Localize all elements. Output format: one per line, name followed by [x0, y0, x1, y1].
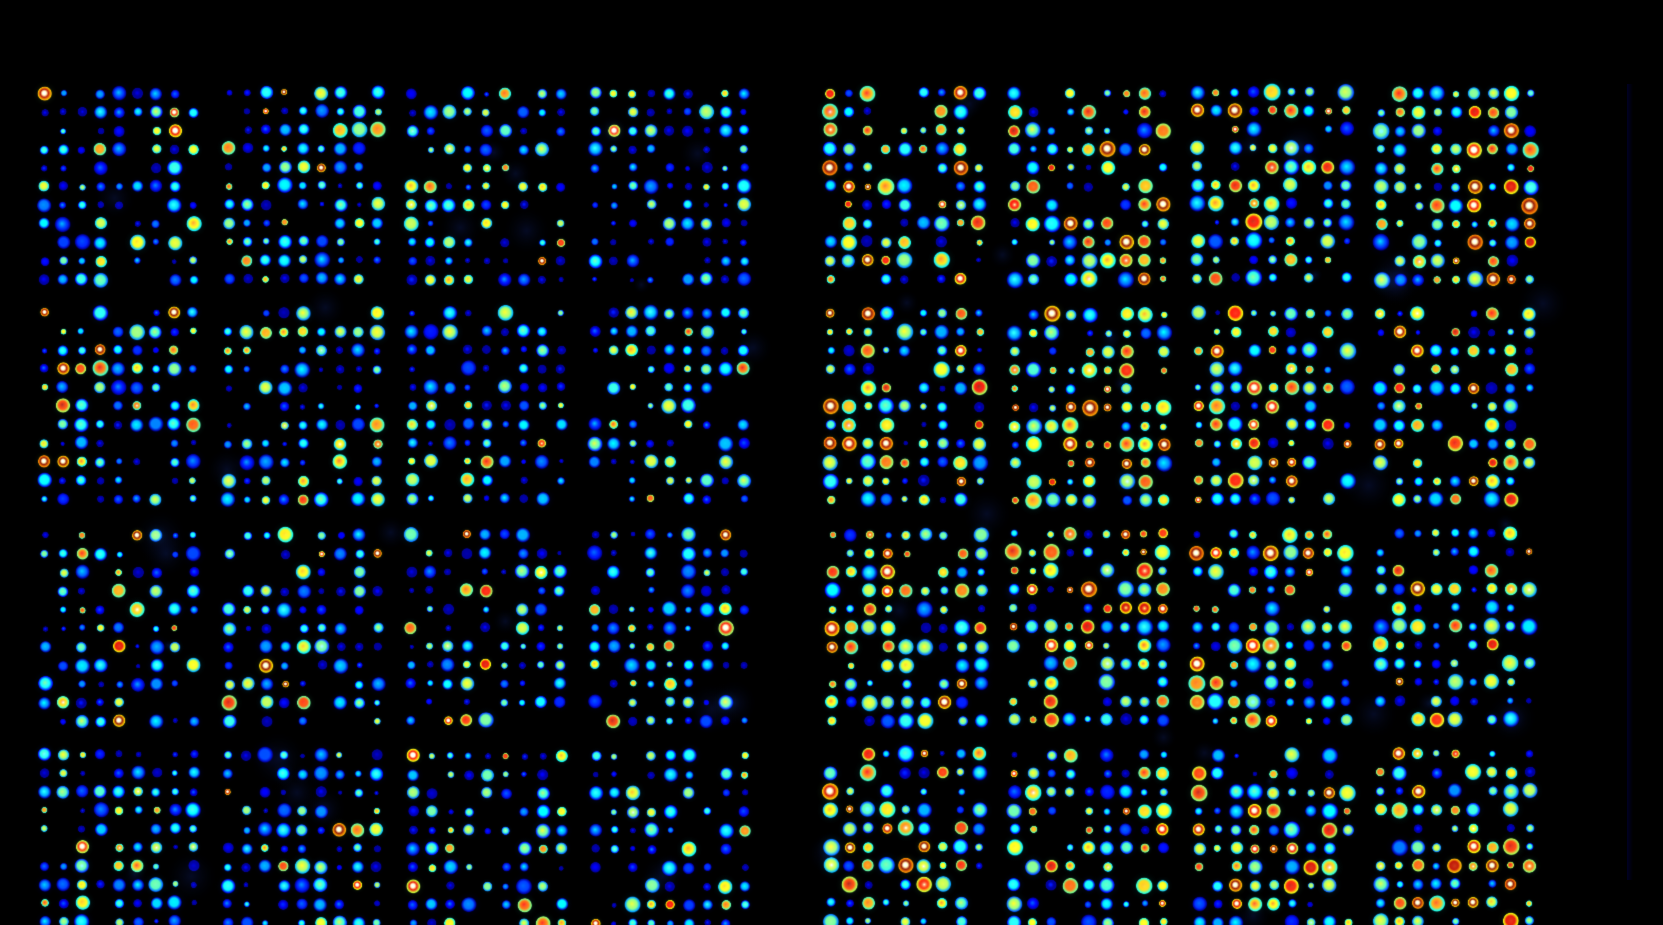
microarray-scan-plasmodium-infected — [800, 0, 1663, 925]
microarray-figure: Signals for uninfected red blood cells S… — [0, 0, 1663, 925]
panel-plasmodium-infected: Signals for Plasmodium-infected red bloo… — [800, 0, 1663, 925]
microarray-scan-uninfected — [0, 0, 800, 925]
panel-uninfected: Signals for uninfected red blood cells — [0, 0, 800, 925]
